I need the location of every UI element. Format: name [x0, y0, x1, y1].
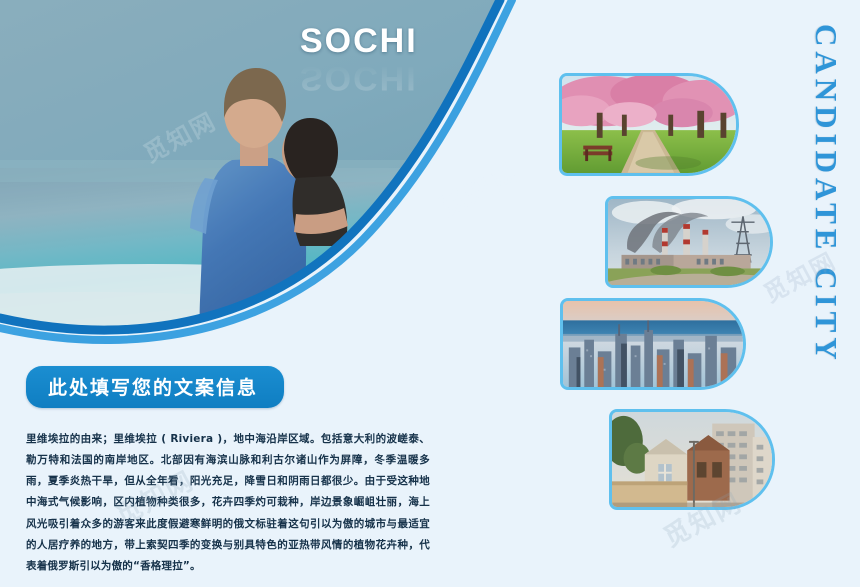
city-skyline-image: [563, 301, 743, 390]
body-paragraph: 里维埃拉的由来；里维埃拉 ( Riviera )，地中海沿岸区域。包括意大利的波…: [26, 429, 430, 578]
thumbnail-industrial-power-plant[interactable]: [605, 196, 773, 288]
thumbnail-city-skyline[interactable]: [560, 298, 746, 390]
cherry-blossom-park-image: [562, 76, 736, 176]
poster-page: SOCHI SOCHI 此处填写您的文案信息 里维埃拉的由来；里维埃拉 ( Ri…: [0, 0, 860, 587]
section-heading-banner: 此处填写您的文案信息: [26, 366, 284, 408]
hero-shape: [0, 0, 560, 380]
old-houses-image: [612, 412, 772, 509]
industrial-power-plant-image: [608, 199, 770, 288]
section-heading-label: 此处填写您的文案信息: [48, 377, 258, 399]
thumbnail-old-houses[interactable]: [609, 409, 775, 510]
candidate-city-label: CANDIDATE CITY: [798, 24, 854, 354]
candidate-city-text: CANDIDATE CITY: [808, 24, 844, 365]
hero-section: SOCHI SOCHI: [0, 0, 560, 380]
thumbnail-cherry-blossom-park[interactable]: [559, 73, 739, 176]
